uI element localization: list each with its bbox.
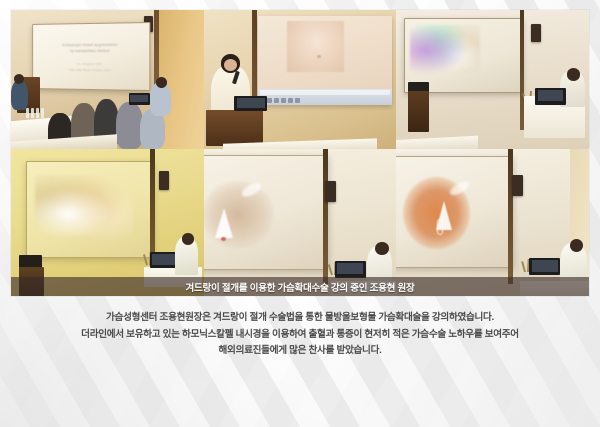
slide-title-line-1: Endoscopic breast augmentation xyxy=(33,42,150,47)
ceiling-beam xyxy=(508,149,513,284)
podium xyxy=(408,91,429,133)
projection-screen xyxy=(26,161,153,258)
ceiling-speaker-icon xyxy=(531,24,541,42)
taskbar-icon xyxy=(288,98,293,103)
audience-member xyxy=(116,102,142,149)
ceiling-speaker-icon xyxy=(325,181,336,202)
taskbar-icon xyxy=(274,98,279,103)
body-copy-line-1: 가슴성형센터 조용현원장은 겨드랑이 절개 수술법을 통한 물방울보형물 가슴확… xyxy=(0,310,600,327)
projection-screen xyxy=(396,156,512,268)
collage-caption-text: 겨드랑이 절개를 이용한 가슴확대수술 강의 중인 조용현 원장 xyxy=(186,280,415,294)
projection-screen xyxy=(204,155,327,270)
photo-top-left: Endoscopic breast augmentation by transa… xyxy=(11,10,204,149)
seated-attendee-head xyxy=(156,77,168,88)
podium xyxy=(206,110,264,146)
body-copy-line-3: 해외의료진들에게 많은 찬사를 받았습니다. xyxy=(0,343,600,360)
laptop xyxy=(335,261,366,279)
retractor-light-cone xyxy=(215,208,233,238)
taskbar-icon xyxy=(267,98,272,103)
slide-affiliation: THE LINE Plastic Surgery Clinic xyxy=(33,68,150,72)
ceiling-speaker-icon xyxy=(159,171,169,190)
taskbar-icon xyxy=(295,98,300,103)
projection-screen xyxy=(258,16,393,105)
body-copy-line-2: 더라인에서 보유하고 있는 하모닉스칼펠 내시경을 이용하여 출혈과 통증이 현… xyxy=(0,327,600,344)
photo-bottom-right xyxy=(396,149,589,296)
projection-screen: Endoscopic breast augmentation by transa… xyxy=(32,21,151,90)
body-copy-block: 가슴성형센터 조용현원장은 겨드랑이 절개 수술법을 통한 물방울보형물 가슴확… xyxy=(0,310,600,360)
photo-top-right xyxy=(396,10,589,149)
endoscopic-footage xyxy=(410,25,480,81)
laptop xyxy=(529,258,560,276)
photo-bottom-left xyxy=(11,149,204,296)
presenter-head xyxy=(14,74,25,84)
photo-grid: Endoscopic breast augmentation by transa… xyxy=(11,10,589,296)
laptop xyxy=(234,96,267,111)
collage-caption-bar: 겨드랑이 절개를 이용한 가슴확대수술 강의 중인 조용현 원장 xyxy=(11,277,589,296)
surgical-footage xyxy=(35,175,133,242)
slide-title-line-2: by transaxillary method xyxy=(33,48,150,52)
laptop xyxy=(535,88,566,105)
photo-bottom-middle xyxy=(204,149,397,296)
bottle xyxy=(26,108,29,118)
bottle xyxy=(41,108,44,118)
seated-operator-head xyxy=(375,242,388,255)
slide-photo-detail xyxy=(317,55,321,59)
seated-operator-head xyxy=(567,68,580,81)
slide-surface: Endoscopic breast augmentation by transa… xyxy=(33,23,150,90)
laptop xyxy=(129,93,150,104)
photo-top-middle xyxy=(204,10,397,149)
slide-clinical-photo xyxy=(287,21,344,73)
ceiling-speaker-icon xyxy=(512,175,523,196)
endoscope-instrument xyxy=(437,219,443,235)
taskbar-strip xyxy=(260,90,389,95)
taskbar-icon xyxy=(281,98,286,103)
bottle xyxy=(31,108,34,118)
seated-operator-head xyxy=(182,233,195,245)
photo-collage: Endoscopic breast augmentation by transa… xyxy=(11,10,589,296)
seated-operator-head xyxy=(570,239,583,252)
laptop xyxy=(150,252,177,268)
slide-presenter-name: Dr. Yonghyun CHO xyxy=(33,63,150,67)
slide-software-taskbar xyxy=(258,89,393,105)
presenter-silhouette xyxy=(11,80,28,111)
water-bottles xyxy=(26,108,44,118)
bottle xyxy=(36,108,39,118)
